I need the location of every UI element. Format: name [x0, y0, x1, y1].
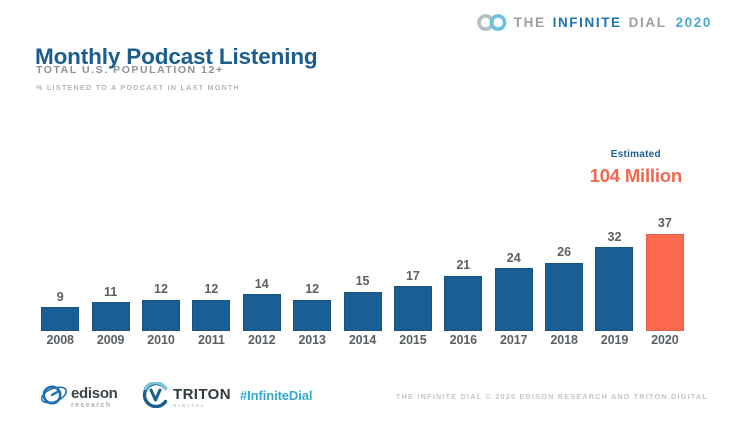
bar-value-label: 12 [305, 283, 319, 296]
bar-value-label: 12 [154, 283, 168, 296]
bar-group-2009[interactable]: 11 [85, 205, 135, 331]
bar-group-2016[interactable]: 21 [438, 205, 488, 331]
triton-tagline: DIGITAL [173, 404, 231, 409]
chart-x-axis: 2008200920102011201220132014201520162017… [35, 333, 690, 347]
x-axis-label-2018: 2018 [539, 333, 589, 347]
estimated-audience-annotation: Estimated 104 Million [590, 150, 682, 186]
triton-digital-logo: TRITON DIGITAL [142, 382, 231, 413]
x-axis-label-2015: 2015 [388, 333, 438, 347]
bar-value-label: 24 [507, 252, 521, 265]
bar-group-2011[interactable]: 12 [186, 205, 236, 331]
x-axis-label-2011: 2011 [186, 333, 236, 347]
x-axis-label-2010: 2010 [136, 333, 186, 347]
bar-value-label: 32 [608, 231, 622, 244]
annotation-value: 104 Million [590, 167, 682, 186]
chart-measure-note: % LISTENED TO A PODCAST IN LAST MONTH [36, 83, 240, 92]
bar-2011[interactable] [192, 300, 230, 332]
chart-plot-area: 9111212141215172124263237 [35, 205, 690, 331]
chart-subtitle: TOTAL U.S. POPULATION 12+ [36, 64, 224, 76]
x-axis-label-2008: 2008 [35, 333, 85, 347]
brand-word-the: THE [514, 15, 546, 30]
bar-2015[interactable] [394, 286, 432, 331]
infinite-dial-brand-logo: THE INFINITE DIAL 2020 [477, 14, 712, 31]
bar-2009[interactable] [92, 302, 130, 331]
bar-value-label: 12 [204, 283, 218, 296]
edison-wordmark: edison research [71, 386, 118, 409]
copyright-notice: THE INFINITE DIAL © 2020 EDISON RESEARCH… [396, 392, 708, 401]
bar-2019[interactable] [595, 247, 633, 331]
bar-group-2018[interactable]: 26 [539, 205, 589, 331]
bar-group-2008[interactable]: 9 [35, 205, 85, 331]
footer: edison research TRITON DIGITAL #Infinite… [0, 380, 740, 420]
bar-value-label: 11 [104, 286, 117, 299]
bar-group-2015[interactable]: 17 [388, 205, 438, 331]
triton-name: TRITON [173, 387, 231, 402]
bar-group-2013[interactable]: 12 [287, 205, 337, 331]
bar-group-2019[interactable]: 32 [589, 205, 639, 331]
brand-word-year: 2020 [676, 15, 712, 30]
bar-group-2017[interactable]: 24 [489, 205, 539, 331]
infinity-icon [477, 14, 507, 31]
x-axis-label-2009: 2009 [85, 333, 135, 347]
bar-value-label: 21 [456, 259, 470, 272]
bar-2010[interactable] [142, 300, 180, 332]
edison-tagline: research [71, 402, 118, 409]
triton-swoosh-icon [142, 382, 169, 413]
edison-name: edison [71, 386, 118, 401]
edison-orbit-icon [40, 382, 70, 413]
podcast-listening-bar-chart: 9111212141215172124263237 20082009201020… [35, 205, 690, 355]
x-axis-label-2017: 2017 [489, 333, 539, 347]
bar-group-2012[interactable]: 14 [237, 205, 287, 331]
bar-2014[interactable] [344, 292, 382, 331]
annotation-label: Estimated [590, 150, 682, 160]
bar-2012[interactable] [243, 294, 281, 331]
bar-2018[interactable] [545, 263, 583, 331]
bar-group-2010[interactable]: 12 [136, 205, 186, 331]
x-axis-label-2020: 2020 [640, 333, 690, 347]
x-axis-label-2014: 2014 [337, 333, 387, 347]
hashtag-link[interactable]: #InfiniteDial [240, 388, 312, 403]
bar-value-label: 17 [406, 270, 420, 283]
bar-2020[interactable] [646, 234, 684, 331]
brand-word-dial: DIAL [629, 15, 667, 30]
bar-2008[interactable] [41, 307, 79, 331]
x-axis-label-2012: 2012 [237, 333, 287, 347]
bar-value-label: 15 [356, 275, 370, 288]
x-axis-label-2013: 2013 [287, 333, 337, 347]
bar-group-2020[interactable]: 37 [640, 205, 690, 331]
bar-group-2014[interactable]: 15 [337, 205, 387, 331]
bar-value-label: 14 [255, 278, 269, 291]
x-axis-label-2019: 2019 [589, 333, 639, 347]
x-axis-label-2016: 2016 [438, 333, 488, 347]
triton-wordmark: TRITON DIGITAL [173, 387, 231, 409]
bar-2016[interactable] [444, 276, 482, 331]
brand-word-infinite: INFINITE [553, 15, 622, 30]
bar-value-label: 26 [557, 246, 571, 259]
bar-2017[interactable] [495, 268, 533, 331]
bar-value-label: 37 [658, 217, 672, 230]
edison-research-logo: edison research [40, 382, 118, 413]
bar-2013[interactable] [293, 300, 331, 332]
bar-value-label: 9 [57, 291, 64, 304]
